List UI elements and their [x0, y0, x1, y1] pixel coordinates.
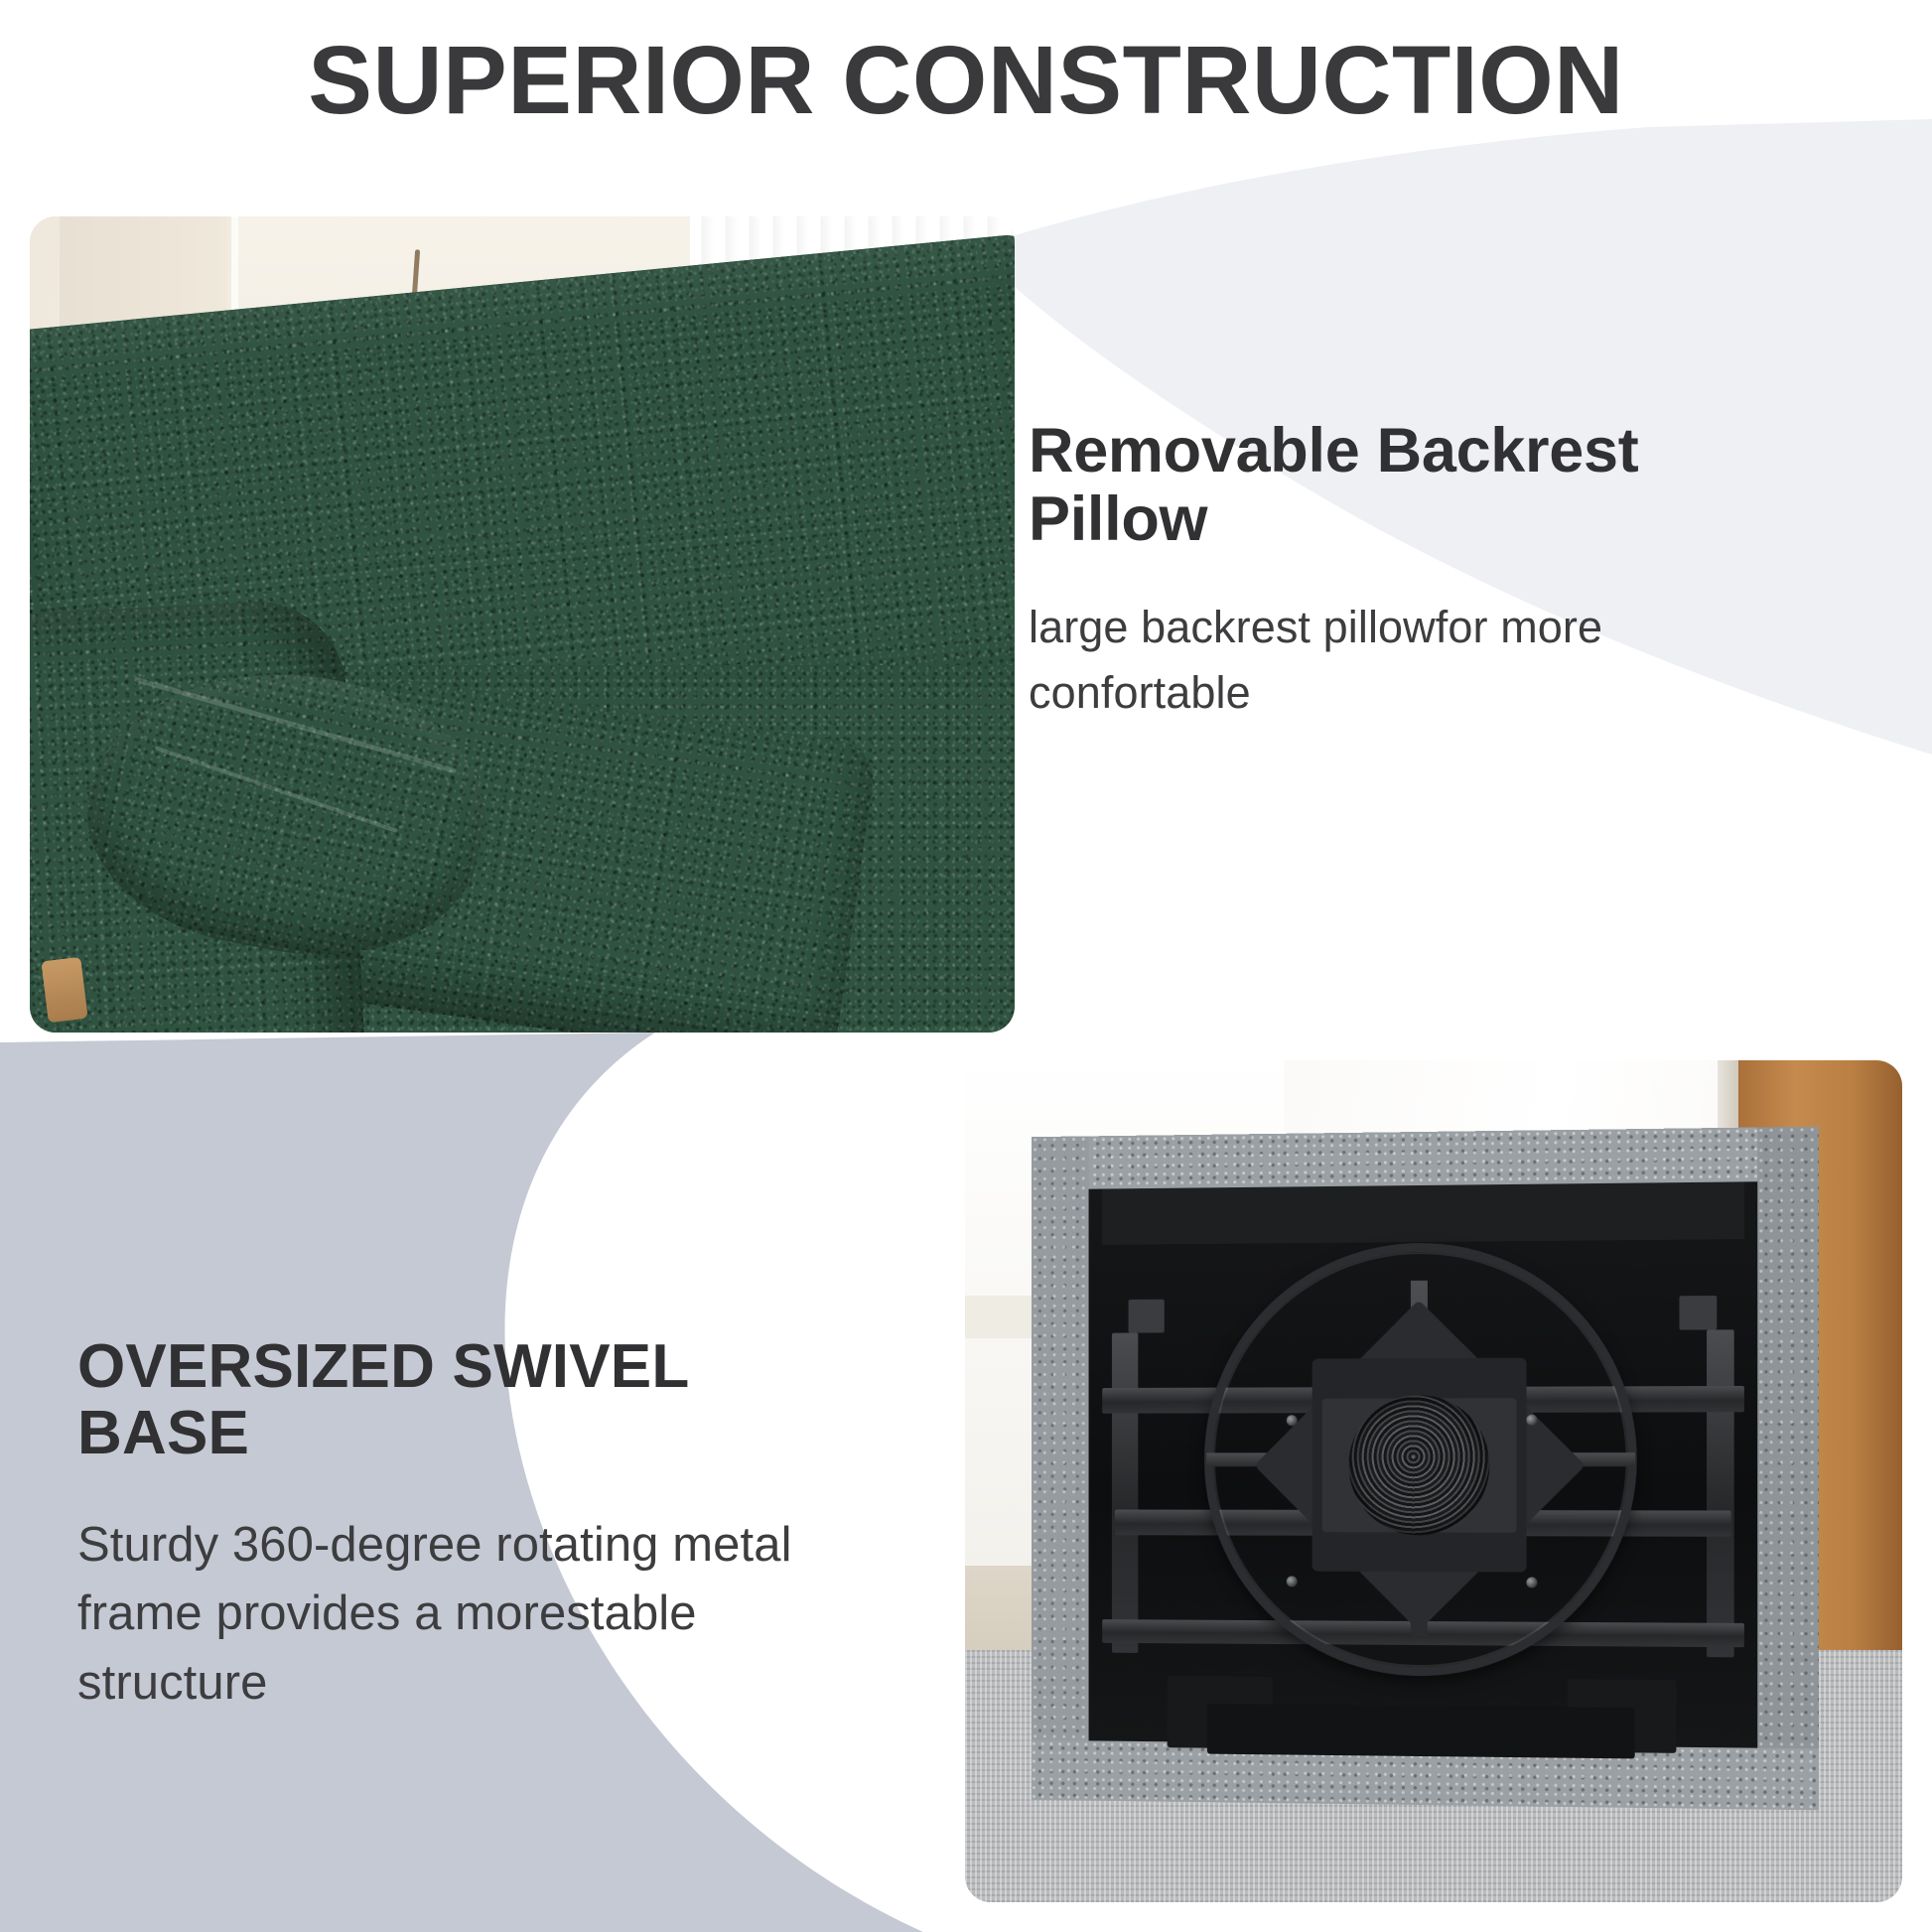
feature-body-swivel: Sturdy 360-degree rotating metal frame p… [77, 1511, 852, 1719]
photo-oversized-swivel-base [965, 1060, 1902, 1902]
feature-heading-pillow: Removable Backrest Pillow [1029, 417, 1813, 555]
corner-bracket-left [1129, 1300, 1165, 1333]
chair-underside-body [1033, 1127, 1820, 1811]
upholstery-edge-right [1758, 1127, 1819, 1811]
feature-removable-backrest-pillow: Removable Backrest Pillow large backrest… [1029, 417, 1813, 727]
frame-rail-vertical-left [1112, 1332, 1138, 1653]
feature-body-pillow: large backrest pillowfor more confortabl… [1029, 595, 1813, 727]
frame-cavity [1089, 1182, 1758, 1749]
page-title: SUPERIOR CONSTRUCTION [0, 32, 1932, 128]
infographic-canvas: SUPERIOR CONSTRUCTION Remova [0, 0, 1932, 1932]
corner-bracket-right [1680, 1296, 1718, 1329]
frame-rail-vertical-right [1707, 1329, 1734, 1658]
upholstery-edge-left [1033, 1136, 1090, 1801]
frame-plinth [1207, 1704, 1635, 1758]
feature-oversized-swivel-base: OVERSIZED SWIVEL BASE Sturdy 360-degree … [77, 1334, 852, 1719]
upholstery-edge-top [1033, 1127, 1820, 1190]
feature-heading-swivel: OVERSIZED SWIVEL BASE [77, 1334, 852, 1467]
frame-deck [1103, 1182, 1745, 1245]
photo-removable-backrest-pillow [30, 216, 1015, 1033]
swivel-bearing-coil [1349, 1395, 1489, 1536]
wooden-leg [41, 956, 87, 1022]
